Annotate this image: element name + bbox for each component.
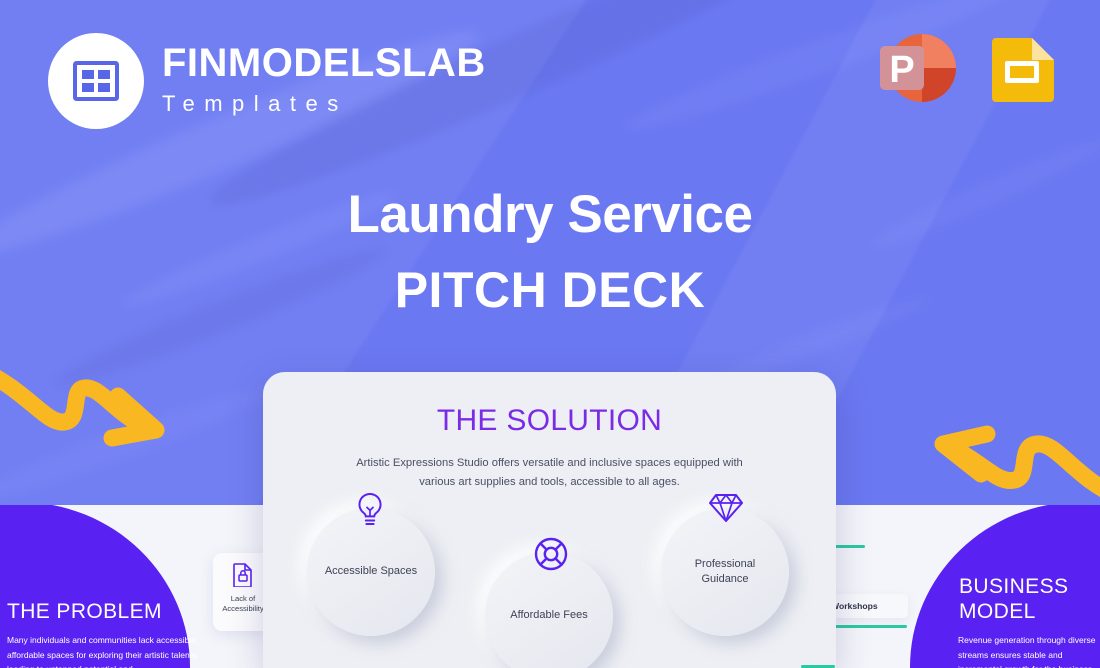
problem-title: THE PROBLEM bbox=[7, 600, 162, 625]
deck-headline: Laundry Service PITCH DECK bbox=[0, 185, 1100, 320]
svg-text:P: P bbox=[889, 49, 914, 91]
squiggly-arrow-right-icon bbox=[0, 352, 178, 452]
format-badges: P bbox=[870, 22, 1060, 114]
logo-badge bbox=[48, 33, 144, 129]
grid-window-icon bbox=[73, 61, 119, 101]
solution-feature-3-label: Professional Guidance bbox=[661, 557, 789, 588]
google-slides-icon bbox=[984, 30, 1060, 106]
diamond-icon bbox=[709, 492, 743, 524]
slide-the-solution[interactable]: THE SOLUTION Artistic Expressions Studio… bbox=[263, 372, 836, 668]
powerpoint-icon: P bbox=[870, 22, 962, 114]
lightbulb-icon bbox=[355, 492, 385, 530]
brand-logo: FINMODELSLAB Templates bbox=[48, 33, 486, 129]
headline-line-2: PITCH DECK bbox=[0, 260, 1100, 320]
teal-divider bbox=[829, 625, 907, 628]
brand-subtitle: Templates bbox=[162, 87, 486, 120]
workshops-label: Workshops bbox=[831, 601, 900, 611]
headline-line-1: Laundry Service bbox=[0, 185, 1100, 244]
solution-feature-3[interactable]: Professional Guidance bbox=[661, 508, 789, 636]
brand-title: FINMODELSLAB bbox=[162, 43, 486, 83]
solution-feature-list: Accessible Spaces Affordable Fees Profes… bbox=[263, 494, 836, 668]
business-model-body: Revenue generation through diverse strea… bbox=[958, 633, 1098, 668]
slide-preview-stage: FINMODELSLAB Templates P Lau bbox=[0, 0, 1100, 668]
solution-title: THE SOLUTION bbox=[263, 404, 836, 438]
document-lock-icon bbox=[233, 563, 253, 587]
solution-description: Artistic Expressions Studio offers versa… bbox=[350, 454, 750, 493]
problem-body: Many individuals and communities lack ac… bbox=[7, 633, 202, 668]
lifebuoy-icon bbox=[533, 536, 569, 572]
solution-feature-1-label: Accessible Spaces bbox=[313, 564, 429, 579]
solution-feature-2-label: Affordable Fees bbox=[498, 608, 599, 623]
business-model-title: BUSINESS MODEL bbox=[959, 575, 1094, 624]
